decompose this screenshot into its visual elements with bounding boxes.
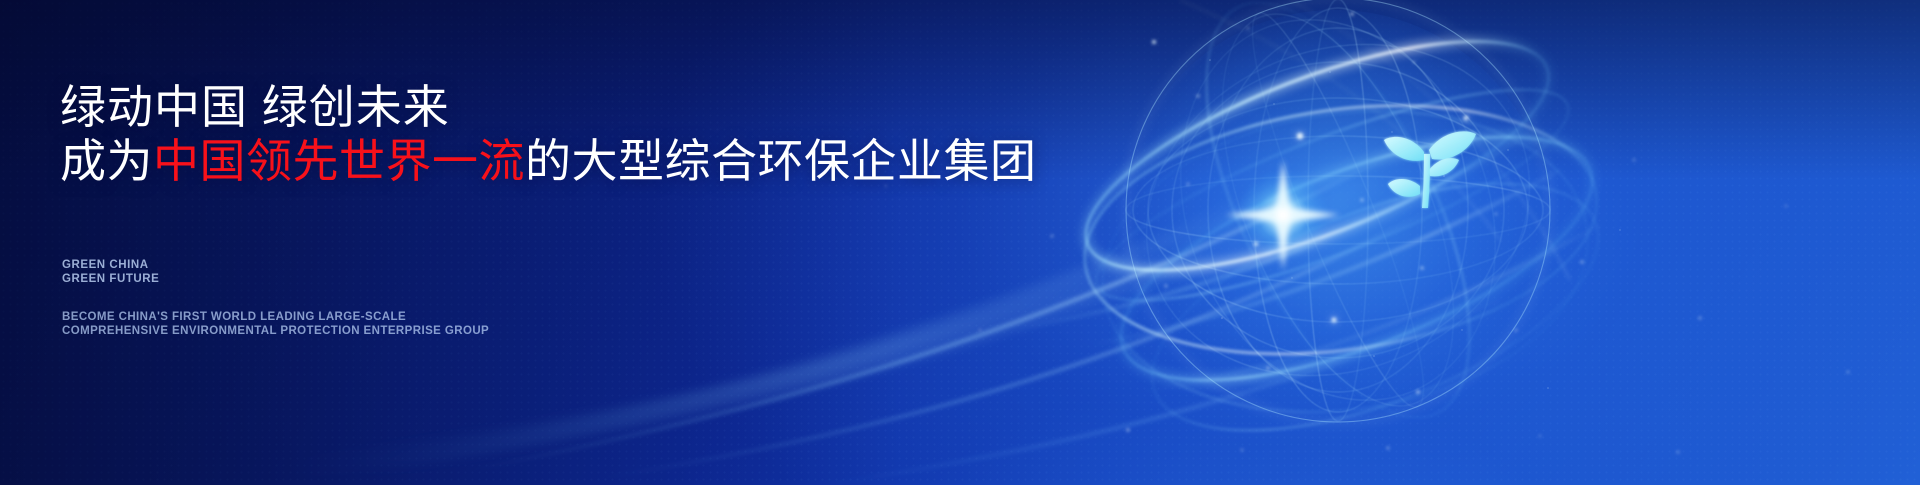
slogan-english-line-1: GREEN CHINA <box>62 258 159 272</box>
banner-content: 绿动中国 绿创未来 成为中国领先世界一流的大型综合环保企业集团 GREEN CH… <box>60 0 1060 485</box>
headline-line-2: 成为中国领先世界一流的大型综合环保企业集团 <box>60 134 1020 188</box>
hero-banner: 绿动中国 绿创未来 成为中国领先世界一流的大型综合环保企业集团 GREEN CH… <box>0 0 1920 485</box>
headline-line2-prefix: 成为 <box>60 135 153 187</box>
description-english-line-2: COMPREHENSIVE ENVIRONMENTAL PROTECTION E… <box>62 324 489 338</box>
slogan-english: GREEN CHINA GREEN FUTURE <box>62 258 159 286</box>
headline-line-1: 绿动中国 绿创未来 <box>60 80 1020 134</box>
description-english: BECOME CHINA'S FIRST WORLD LEADING LARGE… <box>62 310 489 338</box>
description-english-line-1: BECOME CHINA'S FIRST WORLD LEADING LARGE… <box>62 310 489 324</box>
slogan-english-line-2: GREEN FUTURE <box>62 272 159 286</box>
headline-line2-highlight: 中国领先世界一流 <box>153 135 525 187</box>
headline-block: 绿动中国 绿创未来 成为中国领先世界一流的大型综合环保企业集团 <box>60 80 1020 188</box>
headline-line2-suffix: 的大型综合环保企业集团 <box>525 135 1037 187</box>
